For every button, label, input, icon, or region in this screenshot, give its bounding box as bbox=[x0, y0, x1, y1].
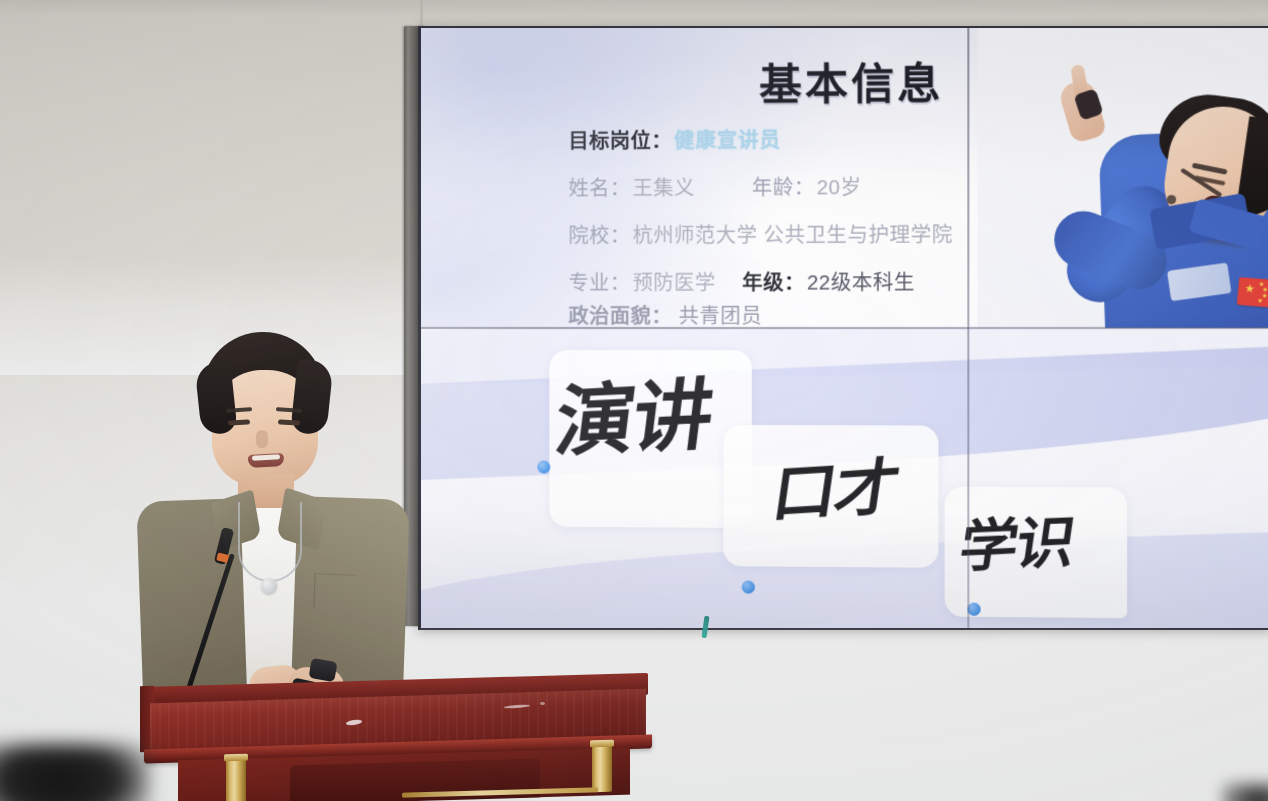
target-position-label: 目标岗位： bbox=[568, 124, 672, 154]
major-label: 专业： bbox=[568, 267, 630, 296]
age-value: 20岁 bbox=[817, 171, 862, 201]
grade-label: 年级： bbox=[742, 266, 805, 295]
political-status-value: 共青团员 bbox=[679, 306, 762, 328]
panel-seam-horizontal bbox=[421, 327, 1268, 329]
accent-dot bbox=[742, 580, 755, 593]
school-value: 杭州师范大学 公共卫生与护理学院 bbox=[633, 218, 953, 248]
political-status-label: 政治面貌： bbox=[568, 306, 672, 328]
slide-lower-half: 演讲 口才 学识 bbox=[421, 328, 1268, 630]
speaker-shirt-pocket bbox=[313, 573, 355, 609]
speaker-person bbox=[118, 332, 418, 712]
speaker-necklace-pendant bbox=[261, 578, 277, 594]
slide-hero-photo: ★ ★ ★ ★ ★ bbox=[978, 26, 1268, 328]
podium-column-cap-left bbox=[224, 754, 248, 762]
flag-small-star: ★ bbox=[1257, 298, 1263, 305]
headset-mic-capsule bbox=[1167, 195, 1176, 204]
podium-scuff bbox=[540, 702, 545, 705]
wooden-podium bbox=[140, 672, 660, 801]
ceiling-edge bbox=[0, 0, 1268, 14]
name-label: 姓名： bbox=[568, 172, 630, 201]
school-label: 院校： bbox=[568, 219, 630, 248]
foreground-blur-object-right bbox=[1222, 782, 1268, 801]
accent-dot bbox=[537, 460, 550, 473]
china-flag-badge: ★ ★ ★ ★ ★ bbox=[1237, 277, 1268, 308]
calligraphy-eloquence: 口才 bbox=[767, 436, 905, 535]
grade-value: 22级本科生 bbox=[807, 266, 915, 296]
podium-gold-column-left bbox=[226, 760, 246, 801]
speaker-eye-right bbox=[278, 419, 300, 425]
speaker-nose bbox=[256, 430, 268, 448]
presentation-photo-scene: 基本信息 目标岗位： 健康宣讲员 姓名： 王集义 年龄： 20岁 bbox=[0, 0, 1268, 801]
display-frame: 基本信息 目标岗位： 健康宣讲员 姓名： 王集义 年龄： 20岁 bbox=[418, 26, 1268, 630]
calligraphy-knowledge: 学识 bbox=[955, 497, 1080, 584]
ceiling-seam bbox=[420, 0, 423, 26]
podium-gold-column-right bbox=[592, 746, 612, 793]
info-row-political-status: 政治面貌： 共青团员 bbox=[568, 300, 762, 329]
name-value: 王集义 bbox=[633, 172, 695, 201]
foreground-blur-object bbox=[0, 744, 150, 801]
slide-upper-half: 基本信息 目标岗位： 健康宣讲员 姓名： 王集义 年龄： 20岁 bbox=[421, 26, 1268, 328]
major-value: 预防医学 bbox=[633, 266, 716, 295]
target-position-value: 健康宣讲员 bbox=[674, 124, 781, 154]
flag-big-star: ★ bbox=[1244, 284, 1255, 295]
video-wall-display[interactable]: 基本信息 目标岗位： 健康宣讲员 姓名： 王集义 年龄： 20岁 bbox=[404, 26, 1268, 626]
podium-column-cap-right bbox=[590, 740, 614, 748]
speaker-necklace-chain bbox=[238, 502, 302, 582]
age-label: 年龄： bbox=[752, 171, 815, 201]
display-surface: 基本信息 目标岗位： 健康宣讲员 姓名： 王集义 年龄： 20岁 bbox=[421, 26, 1268, 630]
calligraphy-speech: 演讲 bbox=[550, 352, 719, 472]
